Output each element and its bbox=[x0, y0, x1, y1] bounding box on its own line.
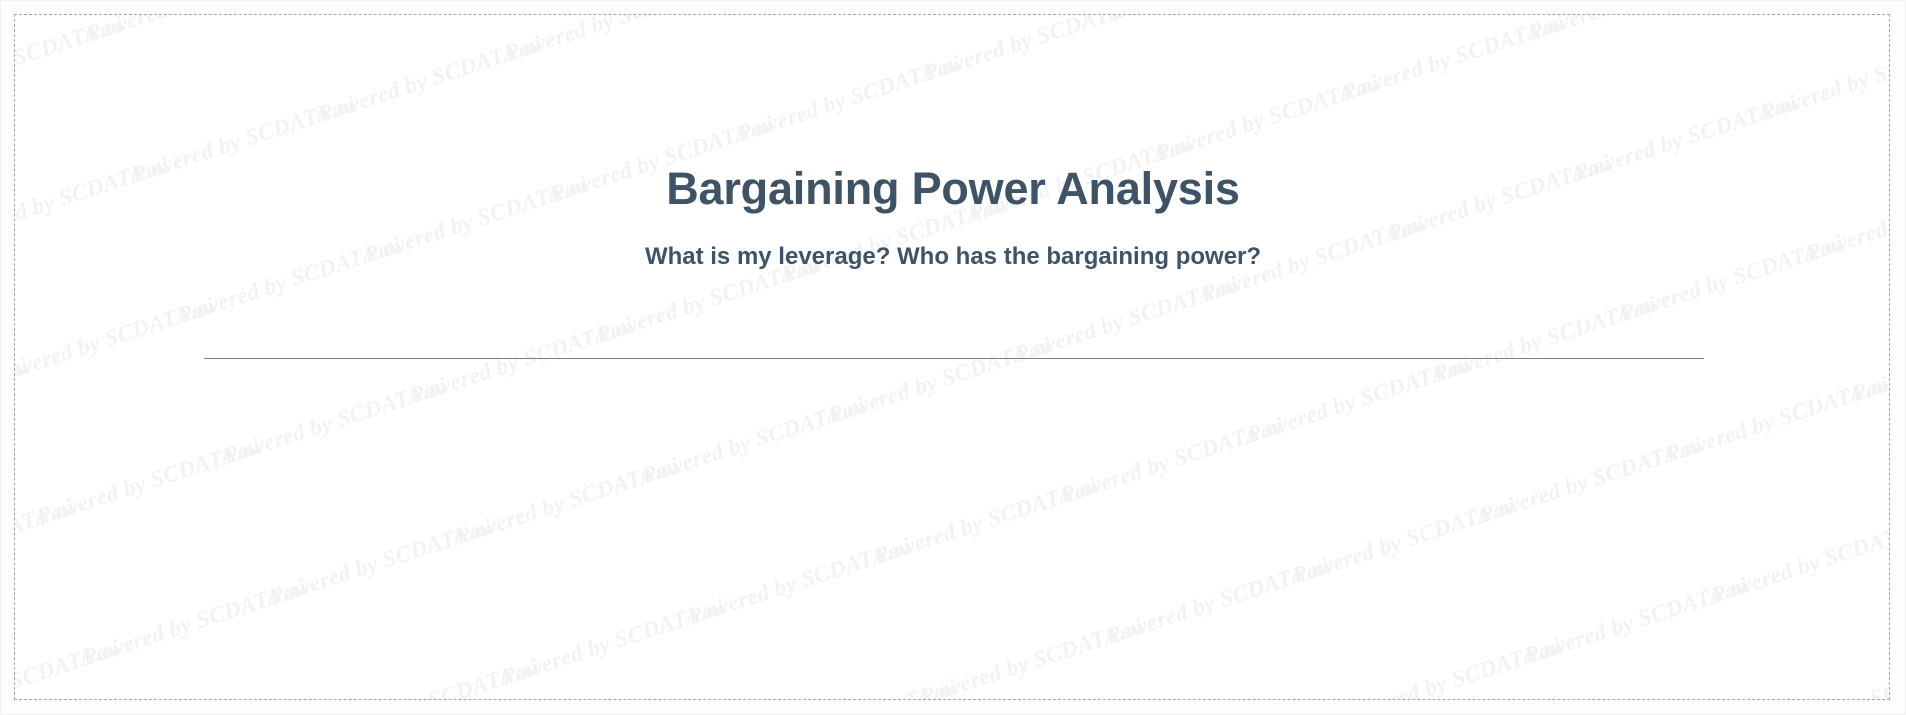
page-subtitle: What is my leverage? Who has the bargain… bbox=[15, 215, 1890, 272]
slide-frame: Powered by SCDATA.aiPowered by SCDATA.ai… bbox=[14, 14, 1890, 700]
title-block: Bargaining Power Analysis What is my lev… bbox=[15, 163, 1890, 272]
title-divider bbox=[204, 358, 1704, 359]
slide-canvas: Powered by SCDATA.aiPowered by SCDATA.ai… bbox=[0, 0, 1906, 715]
slide-content: Bargaining Power Analysis What is my lev… bbox=[15, 15, 1890, 700]
page-title: Bargaining Power Analysis bbox=[15, 163, 1890, 215]
